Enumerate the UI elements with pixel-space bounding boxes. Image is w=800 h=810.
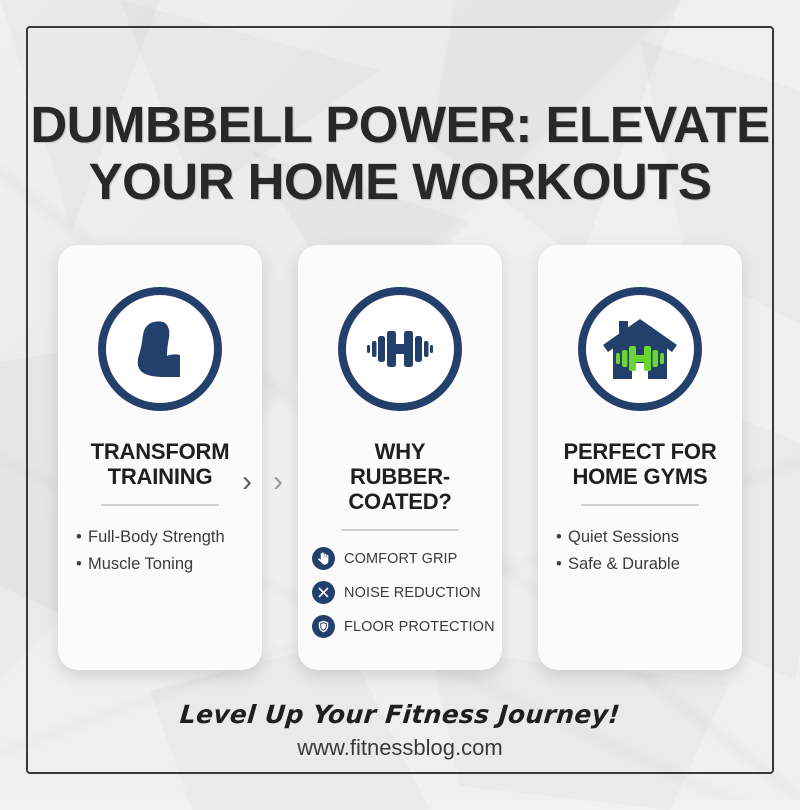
hand-pointer-icon <box>312 547 335 570</box>
list-item: •Quiet Sessions <box>556 524 742 551</box>
card-title-why-rubber-coated: WHY RUBBER-COATED? <box>298 439 502 514</box>
dumbbell-icon <box>338 287 462 411</box>
card-why-rubber-coated[interactable]: WHY RUBBER-COATED? COMFORT GRIP <box>298 245 502 670</box>
list-item-label: Full-Body Strength <box>88 528 225 546</box>
list-item-label: FLOOR PROTECTION <box>344 619 495 635</box>
chevron-right-icon-1: › <box>242 467 252 497</box>
card-perfect-for-home-gyms[interactable]: PERFECT FOR HOME GYMS •Quiet Sessions •S… <box>538 245 742 670</box>
footer-url[interactable]: www.fitnessblog.com <box>0 735 800 761</box>
list-item: •Full-Body Strength <box>76 524 262 551</box>
infographic-poster: DUMBBELL POWER: ELEVATE YOUR HOME WORKOU… <box>0 0 800 800</box>
card-divider <box>581 504 699 506</box>
list-item-label: Safe & Durable <box>568 555 680 573</box>
card-bullet-list: •Full-Body Strength •Muscle Toning <box>58 524 262 578</box>
card-bullet-list: •Quiet Sessions •Safe & Durable <box>538 524 742 578</box>
page-title: DUMBBELL POWER: ELEVATE YOUR HOME WORKOU… <box>0 96 800 210</box>
list-item: COMFORT GRIP <box>312 547 502 570</box>
home-gym-icon <box>578 287 702 411</box>
page-title-line-1: DUMBBELL POWER: ELEVATE <box>0 96 800 153</box>
card-title-line-2: RUBBER-COATED? <box>308 464 492 514</box>
list-item-label: Quiet Sessions <box>568 528 679 546</box>
cards-container: TRANSFORM TRAINING •Full-Body Strength •… <box>58 245 742 670</box>
card-title-line-2: HOME GYMS <box>548 464 732 489</box>
card-divider <box>341 529 459 531</box>
card-transform-training[interactable]: TRANSFORM TRAINING •Full-Body Strength •… <box>58 245 262 670</box>
card-feature-list: COMFORT GRIP NOISE REDUCTION <box>298 547 502 638</box>
list-item: FLOOR PROTECTION <box>312 615 502 638</box>
card-title-line-1: PERFECT FOR <box>548 439 732 464</box>
flexed-bicep-icon <box>98 287 222 411</box>
bullet-marker: • <box>76 551 88 578</box>
page-title-line-2: YOUR HOME WORKOUTS <box>0 153 800 210</box>
list-item-label: COMFORT GRIP <box>344 551 457 567</box>
chevron-right-icon-2: › <box>273 467 283 497</box>
shield-icon <box>312 615 335 638</box>
card-title-line-1: WHY <box>308 439 492 464</box>
footer-tagline: Level Up Your Fitness Journey! <box>0 700 800 729</box>
list-item: •Muscle Toning <box>76 551 262 578</box>
list-item: •Safe & Durable <box>556 551 742 578</box>
list-item: NOISE REDUCTION <box>312 581 502 604</box>
card-divider <box>101 504 219 506</box>
card-title-line-2: TRAINING <box>68 464 252 489</box>
bullet-marker: • <box>556 551 568 578</box>
card-title-transform-training: TRANSFORM TRAINING <box>58 439 262 489</box>
card-title-line-1: TRANSFORM <box>68 439 252 464</box>
close-x-icon <box>312 581 335 604</box>
list-item-label: Muscle Toning <box>88 555 193 573</box>
card-title-perfect-for-home-gyms: PERFECT FOR HOME GYMS <box>538 439 742 489</box>
bullet-marker: • <box>556 524 568 551</box>
list-item-label: NOISE REDUCTION <box>344 585 481 601</box>
bullet-marker: • <box>76 524 88 551</box>
